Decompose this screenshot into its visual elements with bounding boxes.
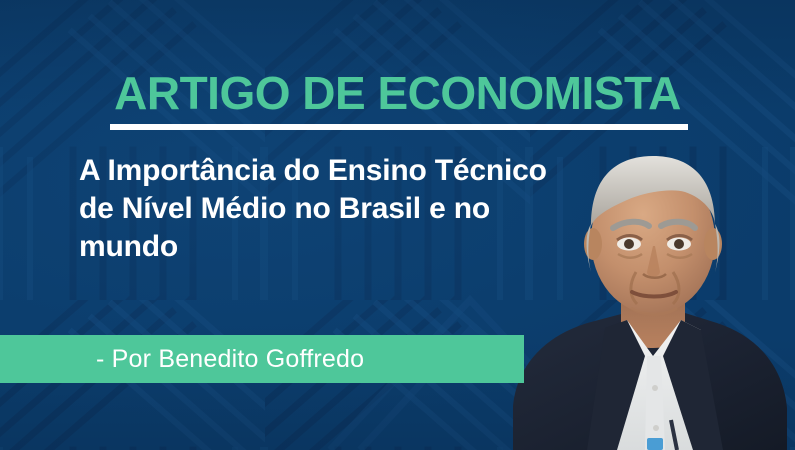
subtitle-line-1: A Importância do Ensino Técnico [79, 152, 609, 190]
article-subtitle: A Importância do Ensino Técnico de Nível… [79, 152, 609, 266]
page-title: ARTIGO DE ECONOMISTA [0, 68, 795, 118]
subtitle-line-3: mundo [79, 228, 609, 266]
article-banner: ARTIGO DE ECONOMISTA A Importância do En… [0, 0, 795, 450]
subtitle-line-2: de Nível Médio no Brasil e no [79, 190, 609, 228]
title-underline-rule [110, 124, 688, 130]
author-credit-text: - Por Benedito Goffredo [96, 335, 364, 383]
